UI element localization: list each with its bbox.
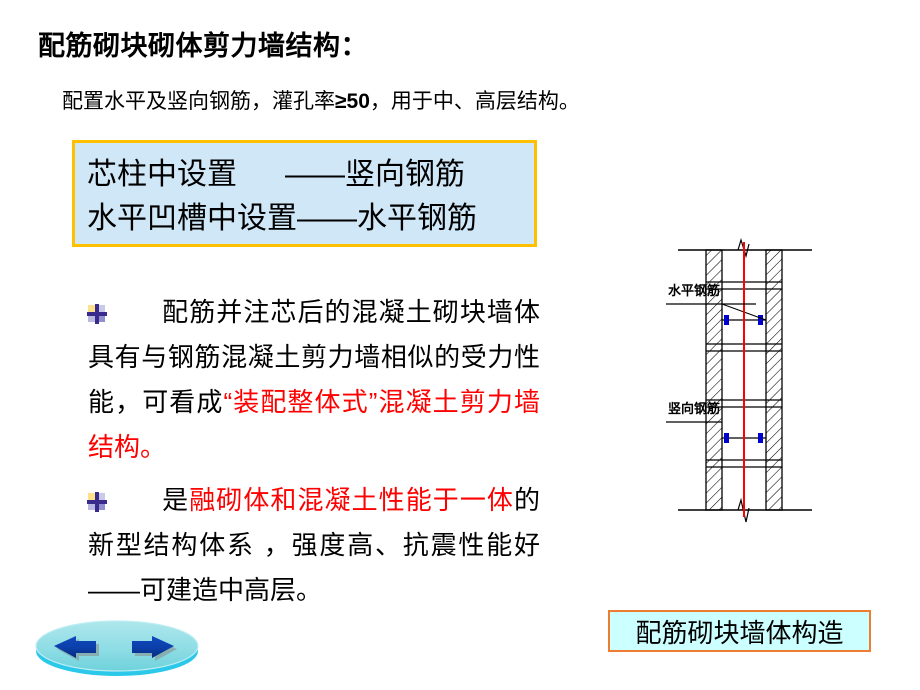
paragraph-2-segment-1: 是 xyxy=(134,485,189,515)
body-paragraph-2: 是融砌体和混凝土性能于一体的新型结构体系 ，强度高、抗震性能好——可建造中高层。 xyxy=(88,478,540,613)
cross-bullet-icon xyxy=(88,493,106,511)
highlight-line-1-left: 芯柱中设置 xyxy=(87,158,237,191)
horizontal-rebar-dot-lower-left xyxy=(724,433,729,443)
subtitle-text-pre: 配置水平及竖向钢筋，灌孔率 xyxy=(62,90,335,113)
subtitle-line: 配置水平及竖向钢筋，灌孔率≥50，用于中、高层结构。 xyxy=(62,85,580,115)
page-title: 配筋砌块砌体剪力墙结构： xyxy=(38,24,368,63)
paragraph-1-emphasis-quoted: “装配整体式” xyxy=(223,387,377,417)
horizontal-rebar-dot-upper-right xyxy=(758,315,763,325)
figure-caption-text: 配筋砌块墙体构造 xyxy=(635,613,843,650)
figure-caption-box: 配筋砌块墙体构造 xyxy=(608,610,871,652)
slide-navigation-widget[interactable] xyxy=(33,617,201,679)
subtitle-threshold-value: ≥50 xyxy=(335,90,370,113)
cross-bullet-icon xyxy=(88,305,106,323)
horizontal-rebar-dot-lower-right xyxy=(758,433,763,443)
paragraph-2-emphasis: 融砌体和混凝土性能于一体 xyxy=(189,485,514,515)
highlight-line-1-right: ——竖向钢筋 xyxy=(285,158,465,191)
highlight-callout-box: 芯柱中设置——竖向钢筋 水平凹槽中设置——水平钢筋 xyxy=(72,140,537,247)
highlight-line-1: 芯柱中设置——竖向钢筋 xyxy=(87,149,465,193)
label-vertical-rebar: 竖向钢筋 xyxy=(668,401,720,416)
wall-section-diagram: 水平钢筋 竖向钢筋 xyxy=(660,232,850,542)
body-paragraph-1: 配筋并注芯后的混凝土砌块墙体具有与钢筋混凝土剪力墙相似的受力性能，可看成“装配整… xyxy=(88,290,540,470)
horizontal-rebar-dot-upper-left xyxy=(724,315,729,325)
label-horizontal-rebar: 水平钢筋 xyxy=(668,283,720,298)
subtitle-text-post: ，用于中、高层结构。 xyxy=(370,90,580,113)
highlight-line-2: 水平凹槽中设置——水平钢筋 xyxy=(87,193,477,237)
